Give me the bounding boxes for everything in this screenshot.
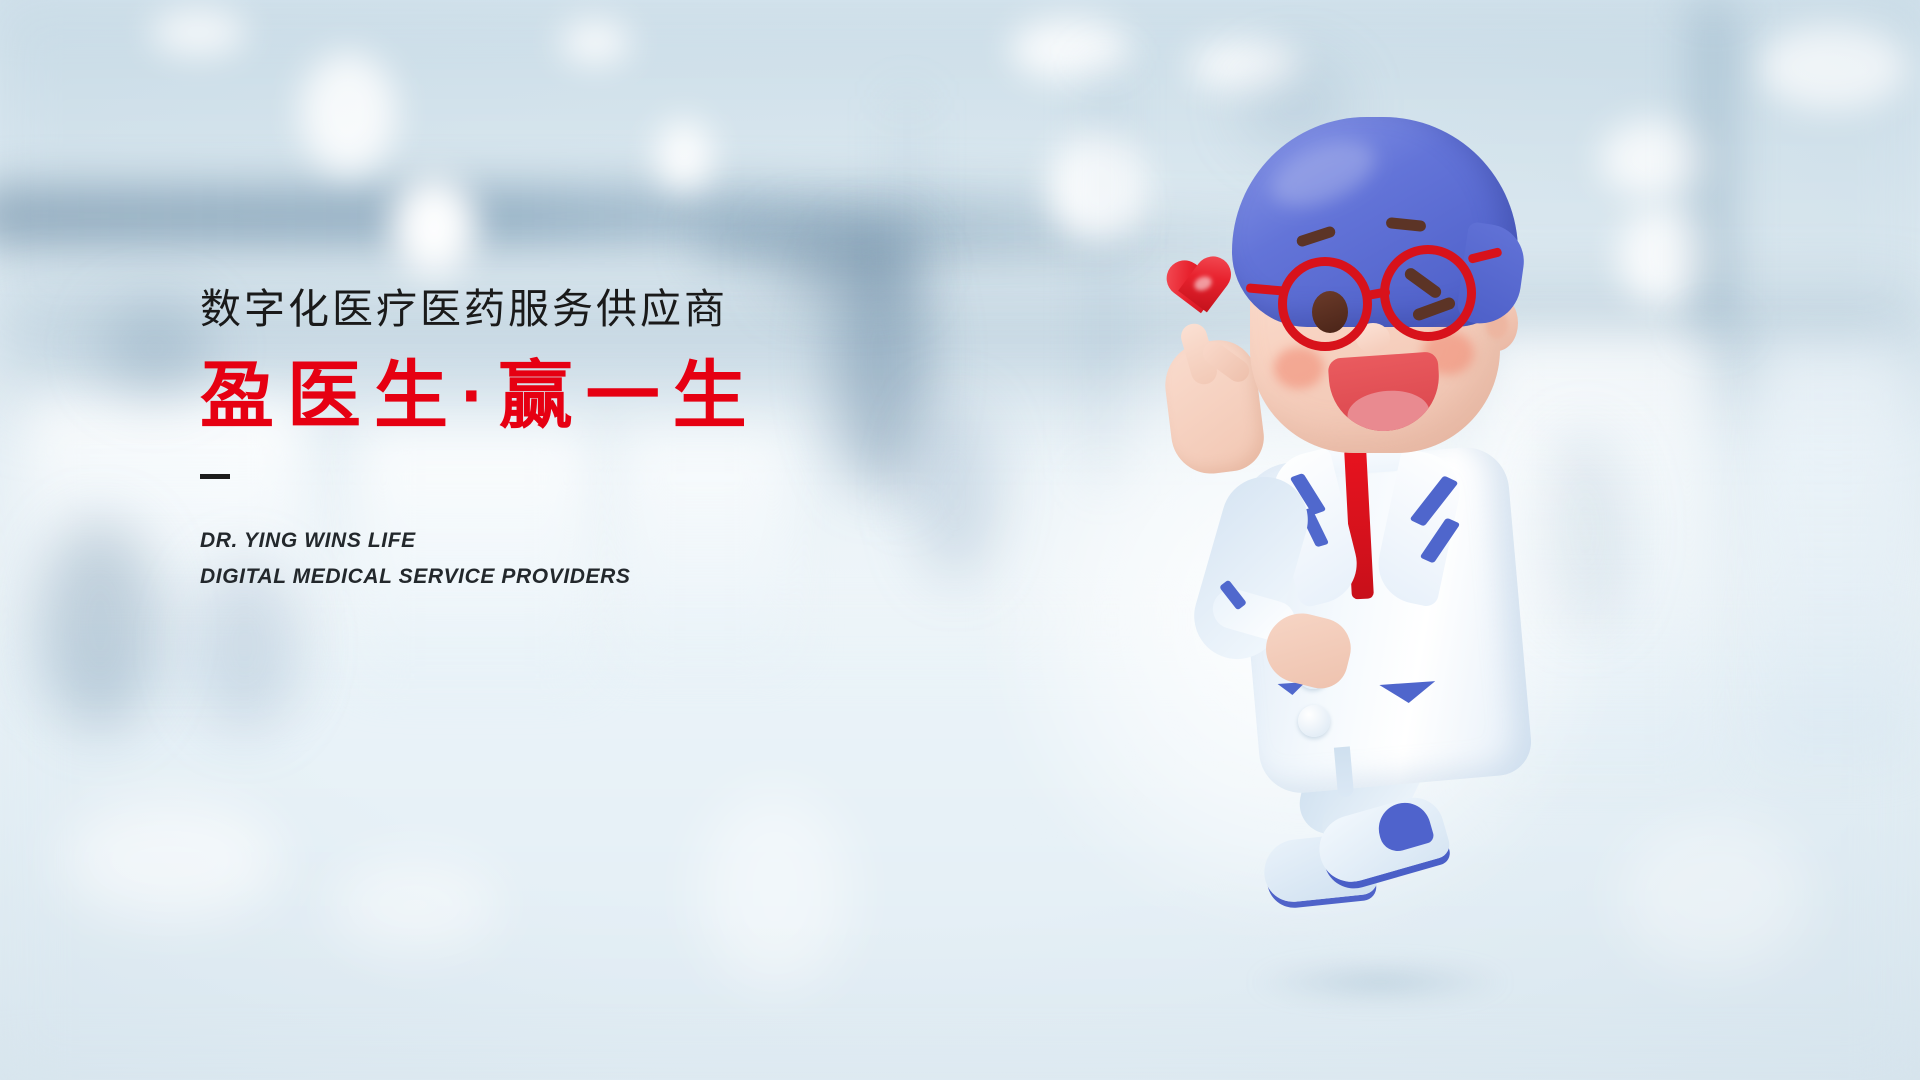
- doctor-mascot-illustration: [1190, 55, 1620, 1035]
- ceiling-lamp-icon: [392, 176, 476, 276]
- headline-chinese: 数字化医疗医药服务供应商: [200, 286, 960, 333]
- ceiling-lamp-icon: [656, 120, 712, 190]
- subtitle-english-line-2: DIGITAL MEDICAL SERVICE PROVIDERS: [200, 559, 960, 595]
- floor-reflection: [330, 860, 500, 950]
- ceiling-lamp-icon: [1618, 206, 1710, 304]
- slogan-chinese: 盈医生·赢一生: [200, 355, 960, 438]
- floor-reflection: [60, 800, 280, 920]
- ceiling-lamp-icon: [560, 20, 630, 64]
- floor-reflection: [1620, 820, 1810, 970]
- ceiling-lamp-icon: [300, 52, 396, 172]
- coat-button: [1298, 705, 1330, 737]
- subtitle-english-line-1: DR. YING WINS LIFE: [200, 523, 960, 559]
- ceiling-lamp-icon: [150, 8, 246, 56]
- tongue: [1346, 388, 1431, 435]
- coat-pocket-trim: [1379, 681, 1436, 705]
- ceiling-lamp-icon: [1758, 24, 1908, 110]
- window-pane: [1758, 340, 1908, 760]
- blurred-figure: [40, 520, 160, 730]
- glasses-icon: [1278, 257, 1372, 351]
- hero-banner: 数字化医疗医药服务供应商 盈医生·赢一生 DR. YING WINS LIFE …: [0, 0, 1920, 1080]
- divider-rule: [200, 474, 230, 479]
- ground-shadow: [1250, 960, 1510, 1004]
- blurred-figure: [100, 300, 210, 396]
- window-frame: [1700, 0, 1726, 330]
- cheek-blush-left: [1274, 347, 1324, 389]
- heart-icon: [1164, 257, 1238, 328]
- glasses-icon: [1380, 245, 1476, 341]
- subtitle-english-block: DR. YING WINS LIFE DIGITAL MEDICAL SERVI…: [200, 523, 960, 595]
- blurred-equipment: [780, 230, 910, 294]
- floor-reflection: [700, 790, 850, 990]
- hero-copy-block: 数字化医疗医药服务供应商 盈医生·赢一生 DR. YING WINS LIFE …: [200, 286, 960, 595]
